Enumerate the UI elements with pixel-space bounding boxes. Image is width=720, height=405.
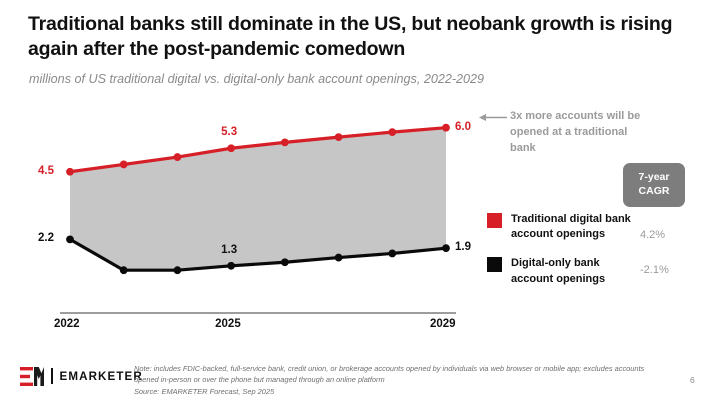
data-label-traditional-2025: 5.3 (221, 126, 237, 138)
data-point (66, 168, 74, 176)
data-point (388, 128, 396, 136)
footnote-source: Source: EMARKETER Forecast, Sep 2025 (134, 387, 274, 396)
data-label-digital-only-2029: 1.9 (455, 241, 471, 253)
legend-item-digital-only: Digital-only bank account openings -2.1% (487, 256, 697, 286)
page-subtitle: millions of US traditional digital vs. d… (29, 72, 689, 86)
x-axis-labels: 2022 2025 2029 (0, 318, 500, 336)
data-point (227, 262, 235, 270)
data-point (335, 254, 343, 262)
data-point (66, 235, 74, 243)
legend-label-digital-only: Digital-only bank account openings (511, 256, 631, 286)
data-point (442, 244, 450, 252)
cagr-badge-line1: 7-year (639, 171, 670, 185)
legend-item-traditional: Traditional digital bank account opening… (487, 212, 697, 242)
chart-legend: Traditional digital bank account opening… (487, 212, 697, 301)
data-point (174, 153, 182, 161)
data-point (442, 124, 450, 132)
data-point (227, 144, 235, 152)
legend-cagr-traditional: 4.2% (640, 229, 696, 241)
page-title: Traditional banks still dominate in the … (28, 12, 688, 62)
logo-divider (51, 368, 53, 384)
emarketer-logo: EMARKETER (20, 366, 143, 386)
data-point (281, 138, 289, 146)
legend-swatch-digital-only (487, 257, 502, 272)
data-point (174, 266, 182, 274)
emarketer-wordmark: EMARKETER (60, 370, 143, 383)
data-label-traditional-2029: 6.0 (455, 121, 471, 133)
line-chart (0, 95, 500, 330)
data-label-traditional-2022: 4.5 (38, 165, 54, 177)
callout-annotation: 3x more accounts will be opened at a tra… (510, 109, 650, 157)
data-point (120, 161, 128, 169)
arrow-left-icon (479, 113, 507, 122)
data-label-digital-only-2022: 2.2 (38, 232, 54, 244)
area-fill-band (70, 128, 446, 271)
data-point (388, 250, 396, 258)
emarketer-mark-icon (20, 367, 44, 386)
page-number: 6 (690, 375, 695, 385)
legend-swatch-traditional (487, 213, 502, 228)
data-label-digital-only-2025: 1.3 (221, 244, 237, 256)
cagr-badge: 7-year CAGR (623, 163, 685, 207)
x-tick-2029: 2029 (430, 318, 456, 330)
cagr-badge-line2: CAGR (639, 185, 670, 199)
data-point (281, 258, 289, 266)
x-tick-2022: 2022 (54, 318, 80, 330)
data-point (120, 266, 128, 274)
x-tick-2025: 2025 (215, 318, 241, 330)
chart-plot-area (0, 95, 500, 330)
footnote-note: Note: includes FDIC-backed, full-service… (134, 364, 644, 384)
footnote: Note: includes FDIC-backed, full-service… (134, 363, 654, 397)
legend-label-traditional: Traditional digital bank account opening… (511, 212, 631, 242)
data-point (335, 133, 343, 141)
legend-cagr-digital-only: -2.1% (640, 264, 696, 276)
